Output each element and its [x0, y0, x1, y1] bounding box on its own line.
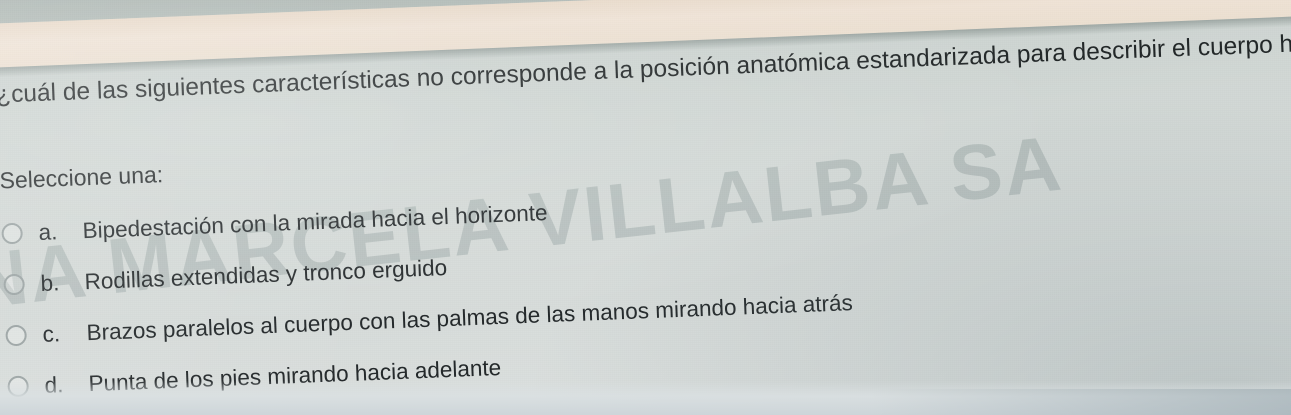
radio-button-a[interactable]	[1, 222, 23, 244]
option-letter-b: b.	[40, 269, 85, 297]
option-label-a[interactable]: Bipedestación con la mirada hacia el hor…	[82, 200, 548, 244]
option-letter-c: c.	[42, 320, 87, 348]
option-label-b[interactable]: Rodillas extendidas y tronco erguido	[84, 255, 447, 295]
radio-button-d[interactable]	[7, 375, 29, 397]
option-label-c[interactable]: Brazos paralelos al cuerpo con las palma…	[86, 290, 853, 346]
radio-button-c[interactable]	[5, 324, 27, 346]
screen-plane: NA MARCELA VILLALBA SA ¿cuál de las sigu…	[0, 0, 1291, 415]
option-label-d[interactable]: Punta de los pies mirando hacia adelante	[88, 355, 501, 397]
photographed-screen: NA MARCELA VILLALBA SA ¿cuál de las sigu…	[0, 0, 1291, 415]
radio-button-b[interactable]	[3, 273, 25, 295]
quiz-content: ¿cuál de las siguientes características …	[0, 27, 1291, 415]
answer-options-list: a. Bipedestación con la mirada hacia el …	[1, 167, 1291, 400]
option-letter-d: d.	[44, 371, 89, 399]
option-letter-a: a.	[38, 218, 83, 246]
